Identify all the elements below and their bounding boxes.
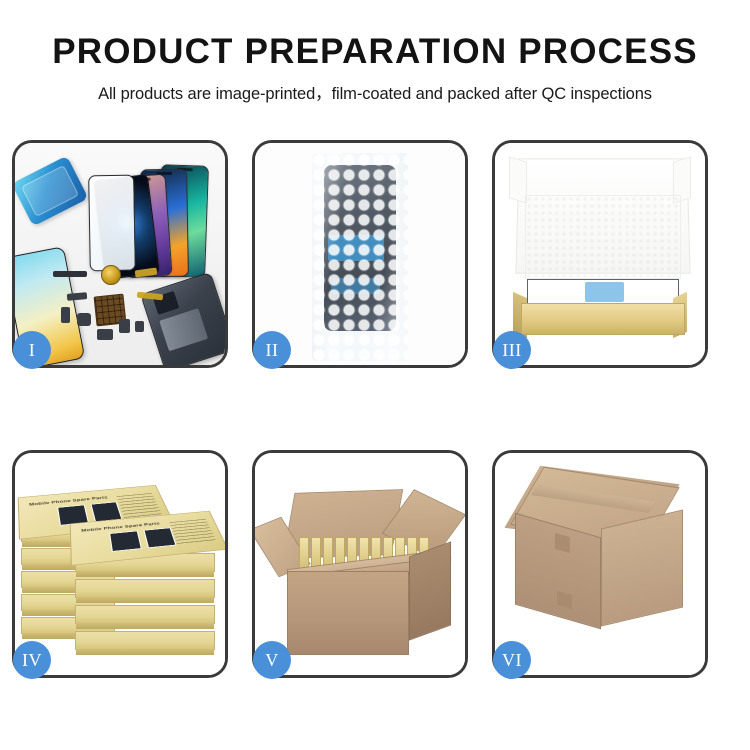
stacked-boxes-illustration: Mobile Phone Spare Parts Mobile Phone Sp… [15,453,225,675]
page-title: PRODUCT PREPARATION PROCESS [0,34,750,71]
kraft-box-illustration [495,143,705,365]
step-image-5 [255,453,465,675]
screw-set-icon [135,321,144,332]
step-panel-5: V [252,450,468,678]
carton-right-face [601,510,683,627]
carton-front [287,571,409,655]
foam-liner [525,195,681,279]
step-panel-2: II [252,140,468,368]
tempered-glass-protector [88,175,136,272]
step-image-1 [15,143,225,365]
step-image-4: Mobile Phone Spare Parts Mobile Phone Sp… [15,453,225,675]
phone-back-housing [140,272,225,365]
sealed-carton-illustration [495,453,705,675]
step-image-6 [495,453,705,675]
header: PRODUCT PREPARATION PROCESS All products… [0,0,750,104]
camera-module-icon [77,313,91,326]
box-edge [76,623,214,629]
open-carton-illustration [255,453,465,675]
bubble-wrap-illustration [255,143,465,365]
retail-box [75,631,215,650]
screen-print-icon [143,527,176,548]
adhesive-sticker-icon [15,156,89,227]
page-subtitle: All products are image-printed，film-coat… [0,80,750,104]
product-preparation-infographic: PRODUCT PREPARATION PROCESS All products… [0,0,750,750]
step-badge-1: I [13,331,51,369]
step-badge-6: VI [493,641,531,679]
retail-box [75,605,215,624]
step-badge-2: II [253,331,291,369]
screen-print-icon [110,531,142,552]
small-part-icon [97,329,113,340]
steps-grid: I II [12,140,740,678]
carton-side [409,541,451,640]
retail-box [75,579,215,598]
box-front-panel [521,303,685,335]
step-panel-4: Mobile Phone Spare Parts Mobile Phone Sp… [12,450,228,678]
step-panel-6: VI [492,450,708,678]
packed-product [527,279,679,305]
box-edge [76,649,214,655]
step-image-2 [255,143,465,365]
spec-lines [170,519,216,545]
phone-parts-illustration [15,143,225,365]
plastic-sheen [312,153,408,361]
step-badge-4: IV [13,641,51,679]
step-badge-5: V [253,641,291,679]
battery-connector-icon [119,319,130,333]
step-image-3 [495,143,705,365]
box-edge [76,597,214,603]
box-edge [76,571,214,577]
step-panel-1: I [12,140,228,368]
speaker-part-icon [53,271,87,277]
spec-lines [116,493,161,518]
sim-tray-icon [61,307,70,323]
step-badge-3: III [493,331,531,369]
vibrator-motor-icon [101,265,121,285]
step-panel-3: III [492,140,708,368]
connector-part-icon [67,292,88,301]
